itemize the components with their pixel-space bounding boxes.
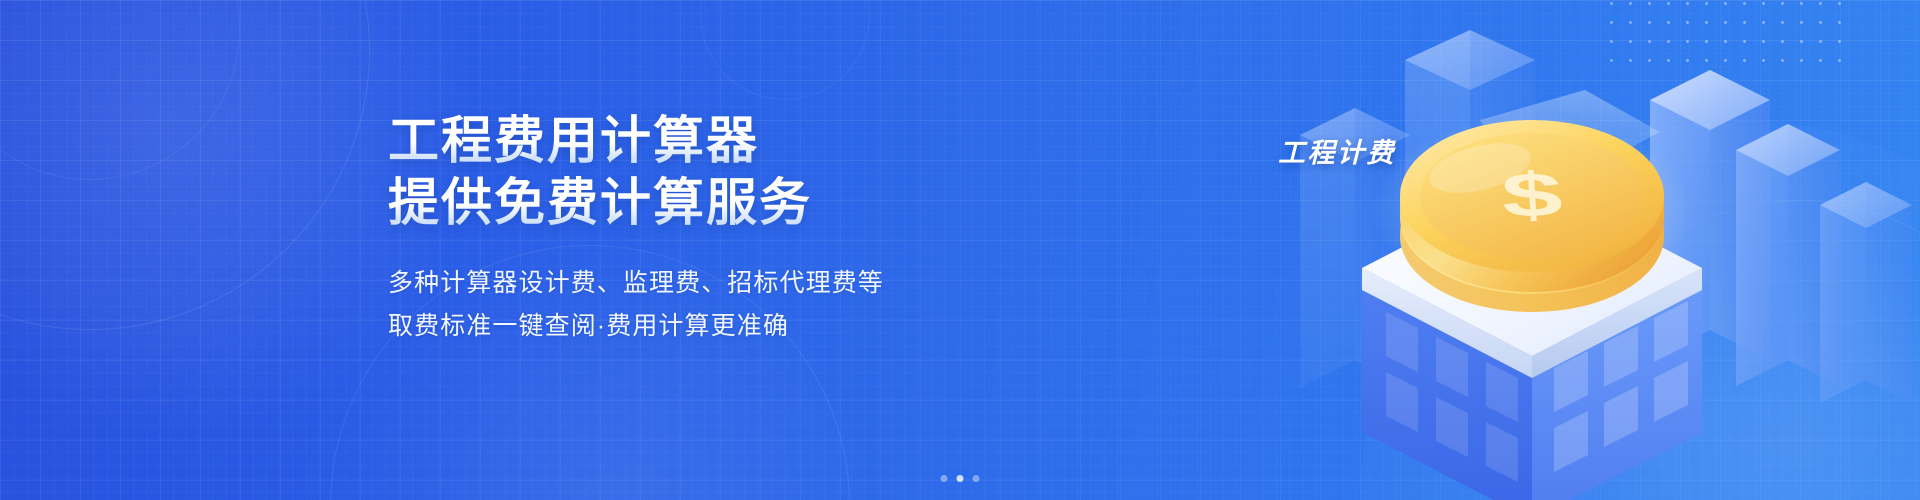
illustration-label: 工程计费 — [1278, 131, 1396, 170]
carousel-pagination[interactable] — [941, 475, 980, 482]
gold-coin: $ — [1400, 120, 1664, 312]
banner-copy-block: 工程费用计算器 提供免费计算服务 多种计算器设计费、监理费、招标代理费等 取费标… — [388, 110, 948, 348]
headline-line-2: 提供免费计算服务 — [388, 172, 948, 234]
carousel-dot-3[interactable] — [973, 475, 980, 482]
decorative-circle-outline-2 — [0, 0, 240, 180]
subtitle-line-2: 取费标准一键查阅·费用计算更准确 — [388, 305, 948, 348]
carousel-dot-2[interactable] — [957, 475, 964, 482]
decorative-circle-outline-5 — [700, 0, 870, 100]
hero-banner: $ 工程计费 工程费用计算器 提供免费计算服务 多种计算器设计费、监理费、招标代… — [0, 0, 1920, 500]
hero-illustration: $ — [1180, 0, 1920, 500]
carousel-dot-1[interactable] — [941, 475, 948, 482]
headline-line-1: 工程费用计算器 — [388, 110, 948, 172]
subtitle-line-1: 多种计算器设计费、监理费、招标代理费等 — [388, 262, 948, 305]
decorative-circle-outline-1 — [0, 0, 370, 330]
